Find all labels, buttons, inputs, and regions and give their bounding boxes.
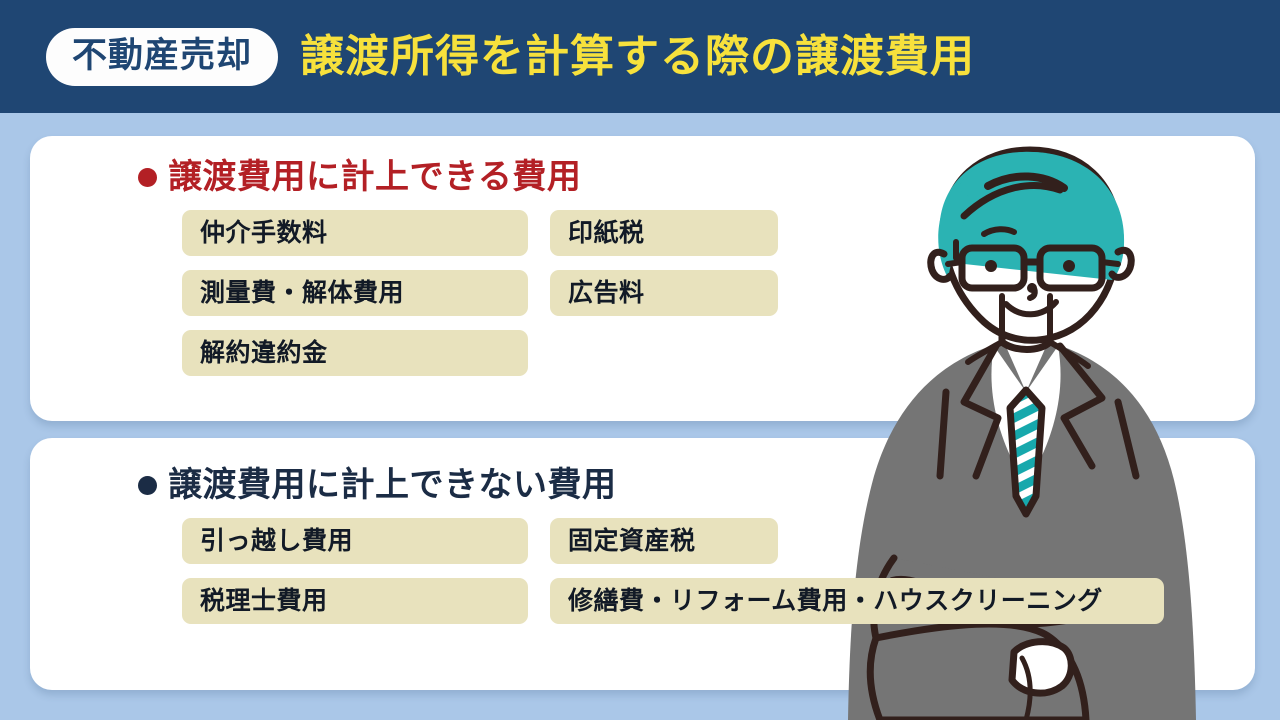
bullet-icon — [138, 476, 157, 495]
infographic-canvas: 不動産売却 譲渡所得を計算する際の譲渡費用 譲渡費用に計上できる費用 仲介手数料… — [0, 0, 1280, 720]
pill-row: 解約違約金 — [182, 330, 1255, 376]
card-2-title: 譲渡費用に計上できない費用 — [168, 468, 617, 502]
pill-item: 税理士費用 — [182, 578, 528, 624]
pill-item: 修繕費・リフォーム費用・ハウスクリーニング — [550, 578, 1164, 624]
header-band: 不動産売却 譲渡所得を計算する際の譲渡費用 — [0, 0, 1280, 113]
pill-row: 測量費・解体費用 広告料 — [182, 270, 1255, 316]
card-2-pill-grid: 引っ越し費用 固定資産税 税理士費用 修繕費・リフォーム費用・ハウスクリーニング — [182, 518, 1255, 624]
card-2-heading: 譲渡費用に計上できない費用 — [138, 468, 1255, 502]
pill-item: 測量費・解体費用 — [182, 270, 528, 316]
pill-item: 固定資産税 — [550, 518, 778, 564]
card-deductible-expenses: 譲渡費用に計上できる費用 仲介手数料 印紙税 測量費・解体費用 広告料 解約違約… — [30, 136, 1255, 421]
category-badge: 不動産売却 — [46, 28, 278, 86]
card-1-pill-grid: 仲介手数料 印紙税 測量費・解体費用 広告料 解約違約金 — [182, 210, 1255, 376]
pill-item: 引っ越し費用 — [182, 518, 528, 564]
pill-item: 仲介手数料 — [182, 210, 528, 256]
pill-row: 仲介手数料 印紙税 — [182, 210, 1255, 256]
card-1-heading: 譲渡費用に計上できる費用 — [138, 160, 1255, 194]
pill-row: 引っ越し費用 固定資産税 — [182, 518, 1255, 564]
card-nondeductible-expenses: 譲渡費用に計上できない費用 引っ越し費用 固定資産税 税理士費用 修繕費・リフォ… — [30, 438, 1255, 690]
pill-item: 印紙税 — [550, 210, 778, 256]
pill-row: 税理士費用 修繕費・リフォーム費用・ハウスクリーニング — [182, 578, 1255, 624]
page-title: 譲渡所得を計算する際の譲渡費用 — [300, 35, 975, 79]
pill-item: 広告料 — [550, 270, 778, 316]
card-1-title: 譲渡費用に計上できる費用 — [168, 160, 581, 194]
pill-item: 解約違約金 — [182, 330, 528, 376]
bullet-icon — [138, 168, 157, 187]
